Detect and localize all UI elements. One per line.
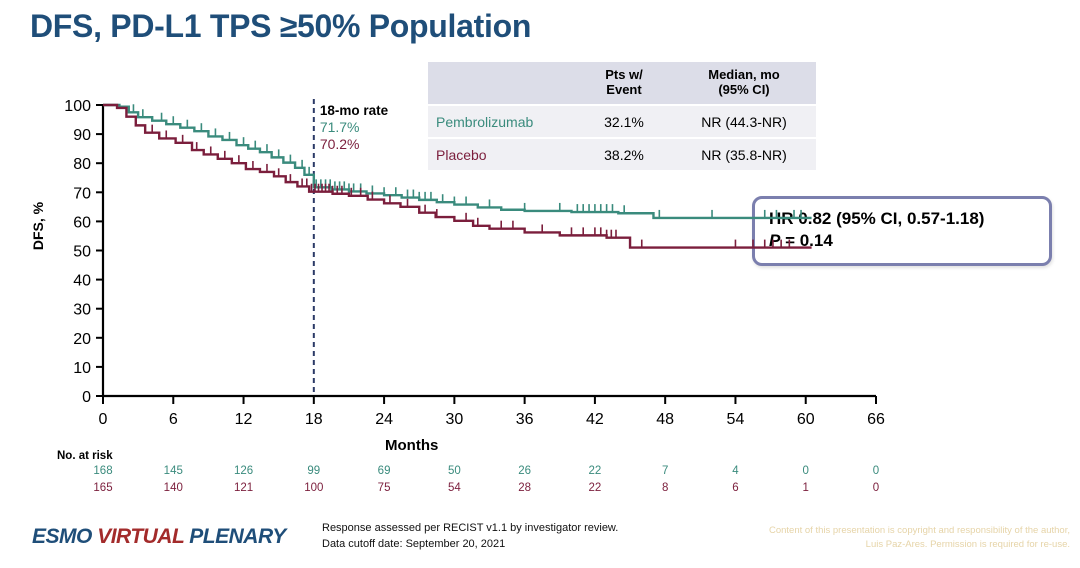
cell-pembrolizumab-median-mo: NR (44.3-NR)	[672, 105, 816, 138]
x-axis-tick-label: 6	[169, 411, 178, 428]
copyright-line-1: Content of this presentation is copyrigh…	[750, 524, 1070, 538]
p-value-number: = 0.14	[780, 231, 832, 250]
risk-value: 145	[150, 465, 196, 477]
row-label-pembrolizumab: Pembrolizumab	[428, 105, 576, 138]
cell-placebo-median-mo: NR (35.8-NR)	[672, 138, 816, 171]
y-axis-tick-label: 60	[73, 214, 91, 231]
x-axis-tick-label: 42	[586, 411, 604, 428]
x-axis-tick-label: 60	[797, 411, 815, 428]
y-axis-tick-label: 0	[82, 389, 91, 406]
table-header-pts-with-event: Pts w/ Event	[576, 62, 672, 105]
risk-table-title: No. at risk	[57, 450, 113, 462]
slide-root: DFS, PD-L1 TPS ≥50% Population Pts w/ Ev…	[0, 0, 1080, 568]
risk-value: 1	[783, 482, 829, 494]
y-axis-tick-label: 70	[73, 185, 91, 202]
row-label-placebo: Placebo	[428, 138, 576, 171]
risk-value: 0	[853, 465, 899, 477]
cell-pembrolizumab-pts-with-event: 32.1%	[576, 105, 672, 138]
x-axis-tick-label: 18	[305, 411, 323, 428]
y-axis-tick-label: 40	[73, 273, 91, 290]
logo-word-esmo: ESMO	[32, 525, 92, 548]
x-axis-tick-label: 0	[99, 411, 108, 428]
table-header-row: Pts w/ Event Median, mo (95% CI)	[428, 62, 816, 105]
footnote-line-2: Data cutoff date: September 20, 2021	[322, 537, 618, 553]
annotation-title: 18-mo rate	[320, 103, 388, 119]
risk-value: 0	[783, 465, 829, 477]
risk-value: 8	[642, 482, 688, 494]
x-axis-tick-label: 24	[375, 411, 393, 428]
y-axis-tick-label: 30	[73, 302, 91, 319]
risk-value: 6	[712, 482, 758, 494]
y-axis-tick-label: 20	[73, 331, 91, 348]
table-header-blank	[428, 62, 576, 105]
x-axis-tick-label: 48	[656, 411, 674, 428]
risk-value: 121	[221, 482, 267, 494]
x-axis-tick-label: 66	[867, 411, 885, 428]
copyright-notice: Content of this presentation is copyrigh…	[750, 524, 1070, 552]
risk-value: 22	[572, 465, 618, 477]
hazard-ratio-text: HR 0.82 (95% CI, 0.57-1.18)	[769, 208, 1037, 230]
page-title: DFS, PD-L1 TPS ≥50% Population	[30, 8, 531, 45]
risk-value: 50	[431, 465, 477, 477]
risk-value: 7	[642, 465, 688, 477]
risk-row-pembrolizumab: 16814512699695026227400	[0, 465, 1080, 480]
cell-placebo-pts-with-event: 38.2%	[576, 138, 672, 171]
p-value-text: P = 0.14	[769, 230, 1037, 252]
y-axis-tick-label: 10	[73, 360, 91, 377]
x-axis-tick-label: 36	[516, 411, 534, 428]
summary-table: Pts w/ Event Median, mo (95% CI) Pembrol…	[428, 62, 816, 172]
esmo-virtual-plenary-logo: ESMO VIRTUAL PLENARY	[32, 525, 286, 549]
hazard-ratio-box: HR 0.82 (95% CI, 0.57-1.18) P = 0.14	[752, 196, 1052, 266]
risk-value: 69	[361, 465, 407, 477]
y-axis-label: DFS, %	[30, 186, 46, 266]
table-row: Pembrolizumab 32.1% NR (44.3-NR)	[428, 105, 816, 138]
risk-value: 99	[291, 465, 337, 477]
risk-value: 26	[502, 465, 548, 477]
header-line-2: (95% CI)	[680, 83, 808, 98]
x-axis-label: Months	[385, 437, 438, 454]
risk-value: 0	[853, 482, 899, 494]
risk-value: 22	[572, 482, 618, 494]
copyright-line-2: Luis Paz-Ares. Permission is required fo…	[750, 538, 1070, 552]
table-header-median-mo: Median, mo (95% CI)	[672, 62, 816, 105]
footnote-line-1: Response assessed per RECIST v1.1 by inv…	[322, 521, 618, 537]
risk-value: 126	[221, 465, 267, 477]
logo-word-virtual: VIRTUAL	[97, 525, 184, 548]
risk-value: 168	[80, 465, 126, 477]
risk-value: 75	[361, 482, 407, 494]
y-axis-tick-label: 50	[73, 244, 91, 261]
risk-value: 28	[502, 482, 548, 494]
annotation-18mo-rate: 18-mo rate 71.7% 70.2%	[320, 103, 388, 153]
x-axis-tick-label: 54	[727, 411, 745, 428]
x-axis-tick-label: 12	[235, 411, 253, 428]
footnote: Response assessed per RECIST v1.1 by inv…	[322, 521, 618, 553]
risk-value: 54	[431, 482, 477, 494]
risk-value: 140	[150, 482, 196, 494]
risk-value: 100	[291, 482, 337, 494]
y-axis-tick-label: 80	[73, 156, 91, 173]
header-line-1: Median, mo	[680, 68, 808, 83]
x-axis-tick-label: 30	[445, 411, 463, 428]
p-value-symbol: P	[769, 231, 780, 250]
risk-value: 4	[712, 465, 758, 477]
annotation-pembrolizumab-rate: 71.7%	[320, 119, 388, 136]
table-row: Placebo 38.2% NR (35.8-NR)	[428, 138, 816, 171]
y-axis-tick-label: 90	[73, 127, 91, 144]
risk-row-placebo: 165140121100755428228610	[0, 482, 1080, 497]
y-axis-tick-label: 100	[64, 98, 91, 115]
risk-value: 165	[80, 482, 126, 494]
header-line-2: Event	[584, 83, 664, 98]
annotation-placebo-rate: 70.2%	[320, 136, 388, 153]
logo-word-plenary: PLENARY	[189, 525, 285, 548]
header-line-1: Pts w/	[584, 68, 664, 83]
